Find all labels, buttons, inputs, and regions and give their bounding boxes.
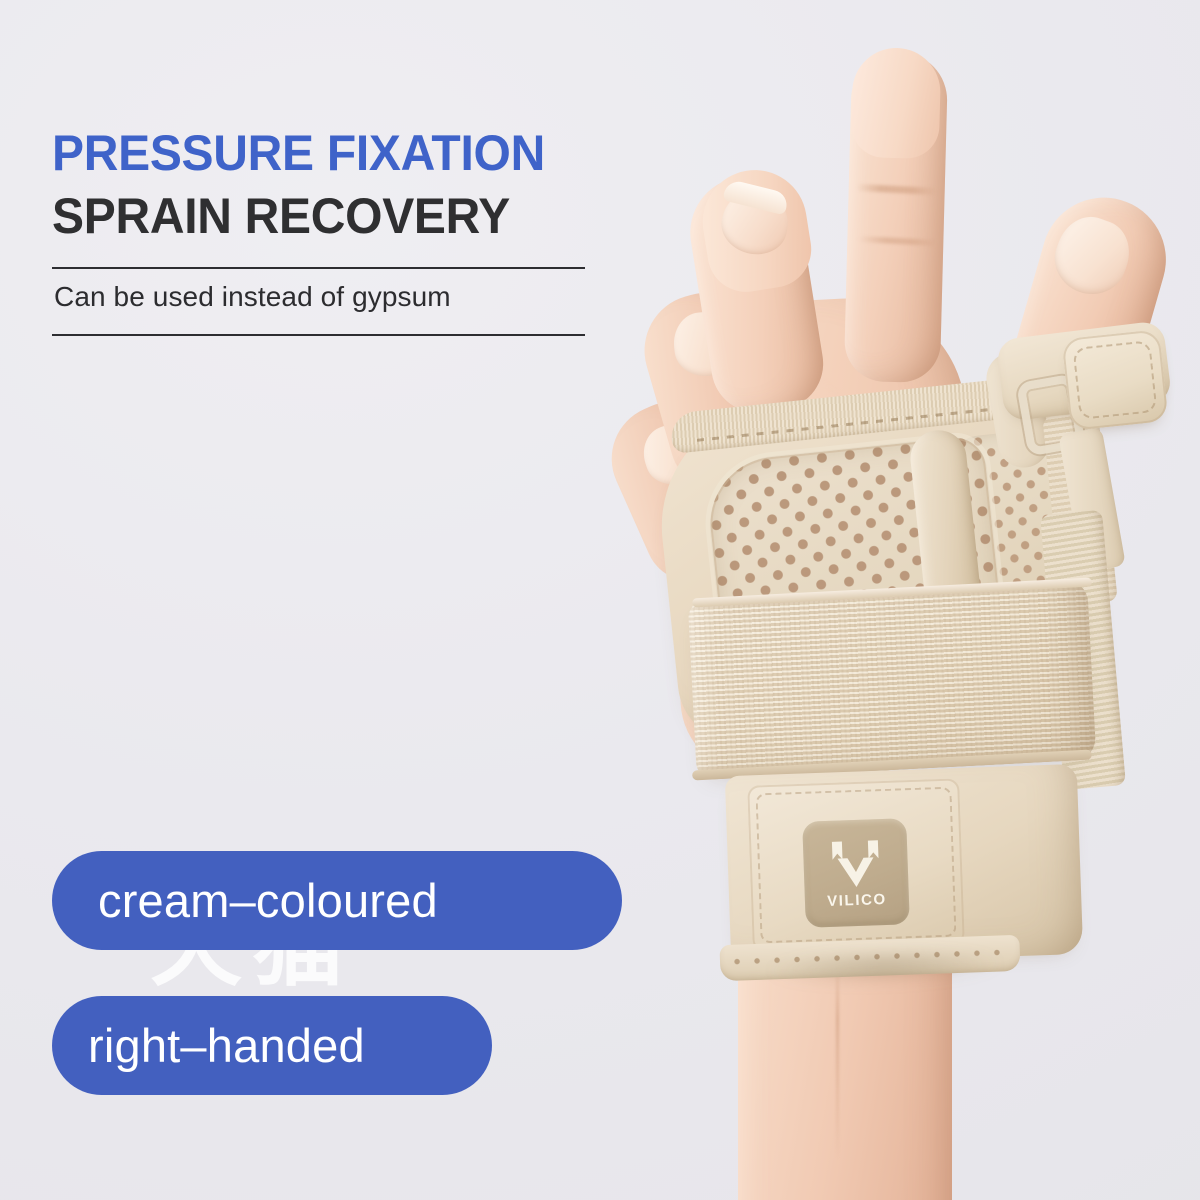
headline-block: PRESSURE FIXATION SPRAIN RECOVERY Can be… [52, 126, 672, 336]
badge-label: right–handed [88, 1022, 365, 1069]
badge-label: cream–coloured [98, 877, 438, 924]
product-banner: VILICO PRESSURE FIXATION SPRAIN RECOVERY… [0, 0, 1200, 1200]
headline-secondary: SPRAIN RECOVERY [52, 188, 647, 244]
thumb-velcro-tab-stitching [1072, 340, 1157, 420]
brand-wordmark: VILICO [827, 891, 887, 908]
product-photo: VILICO [600, 0, 1200, 1200]
brand-logo-patch: VILICO [802, 818, 910, 928]
middle-finger-tip [851, 47, 942, 159]
elastic-wrist-band [688, 580, 1097, 781]
vilico-chevron-icon [828, 838, 884, 890]
badge-cream-coloured[interactable]: cream–coloured [52, 851, 622, 950]
badge-right-handed[interactable]: right–handed [52, 996, 492, 1095]
headline-primary: PRESSURE FIXATION [52, 126, 647, 180]
divider-bottom [52, 334, 585, 336]
subtitle: Can be used instead of gypsum [52, 269, 672, 314]
